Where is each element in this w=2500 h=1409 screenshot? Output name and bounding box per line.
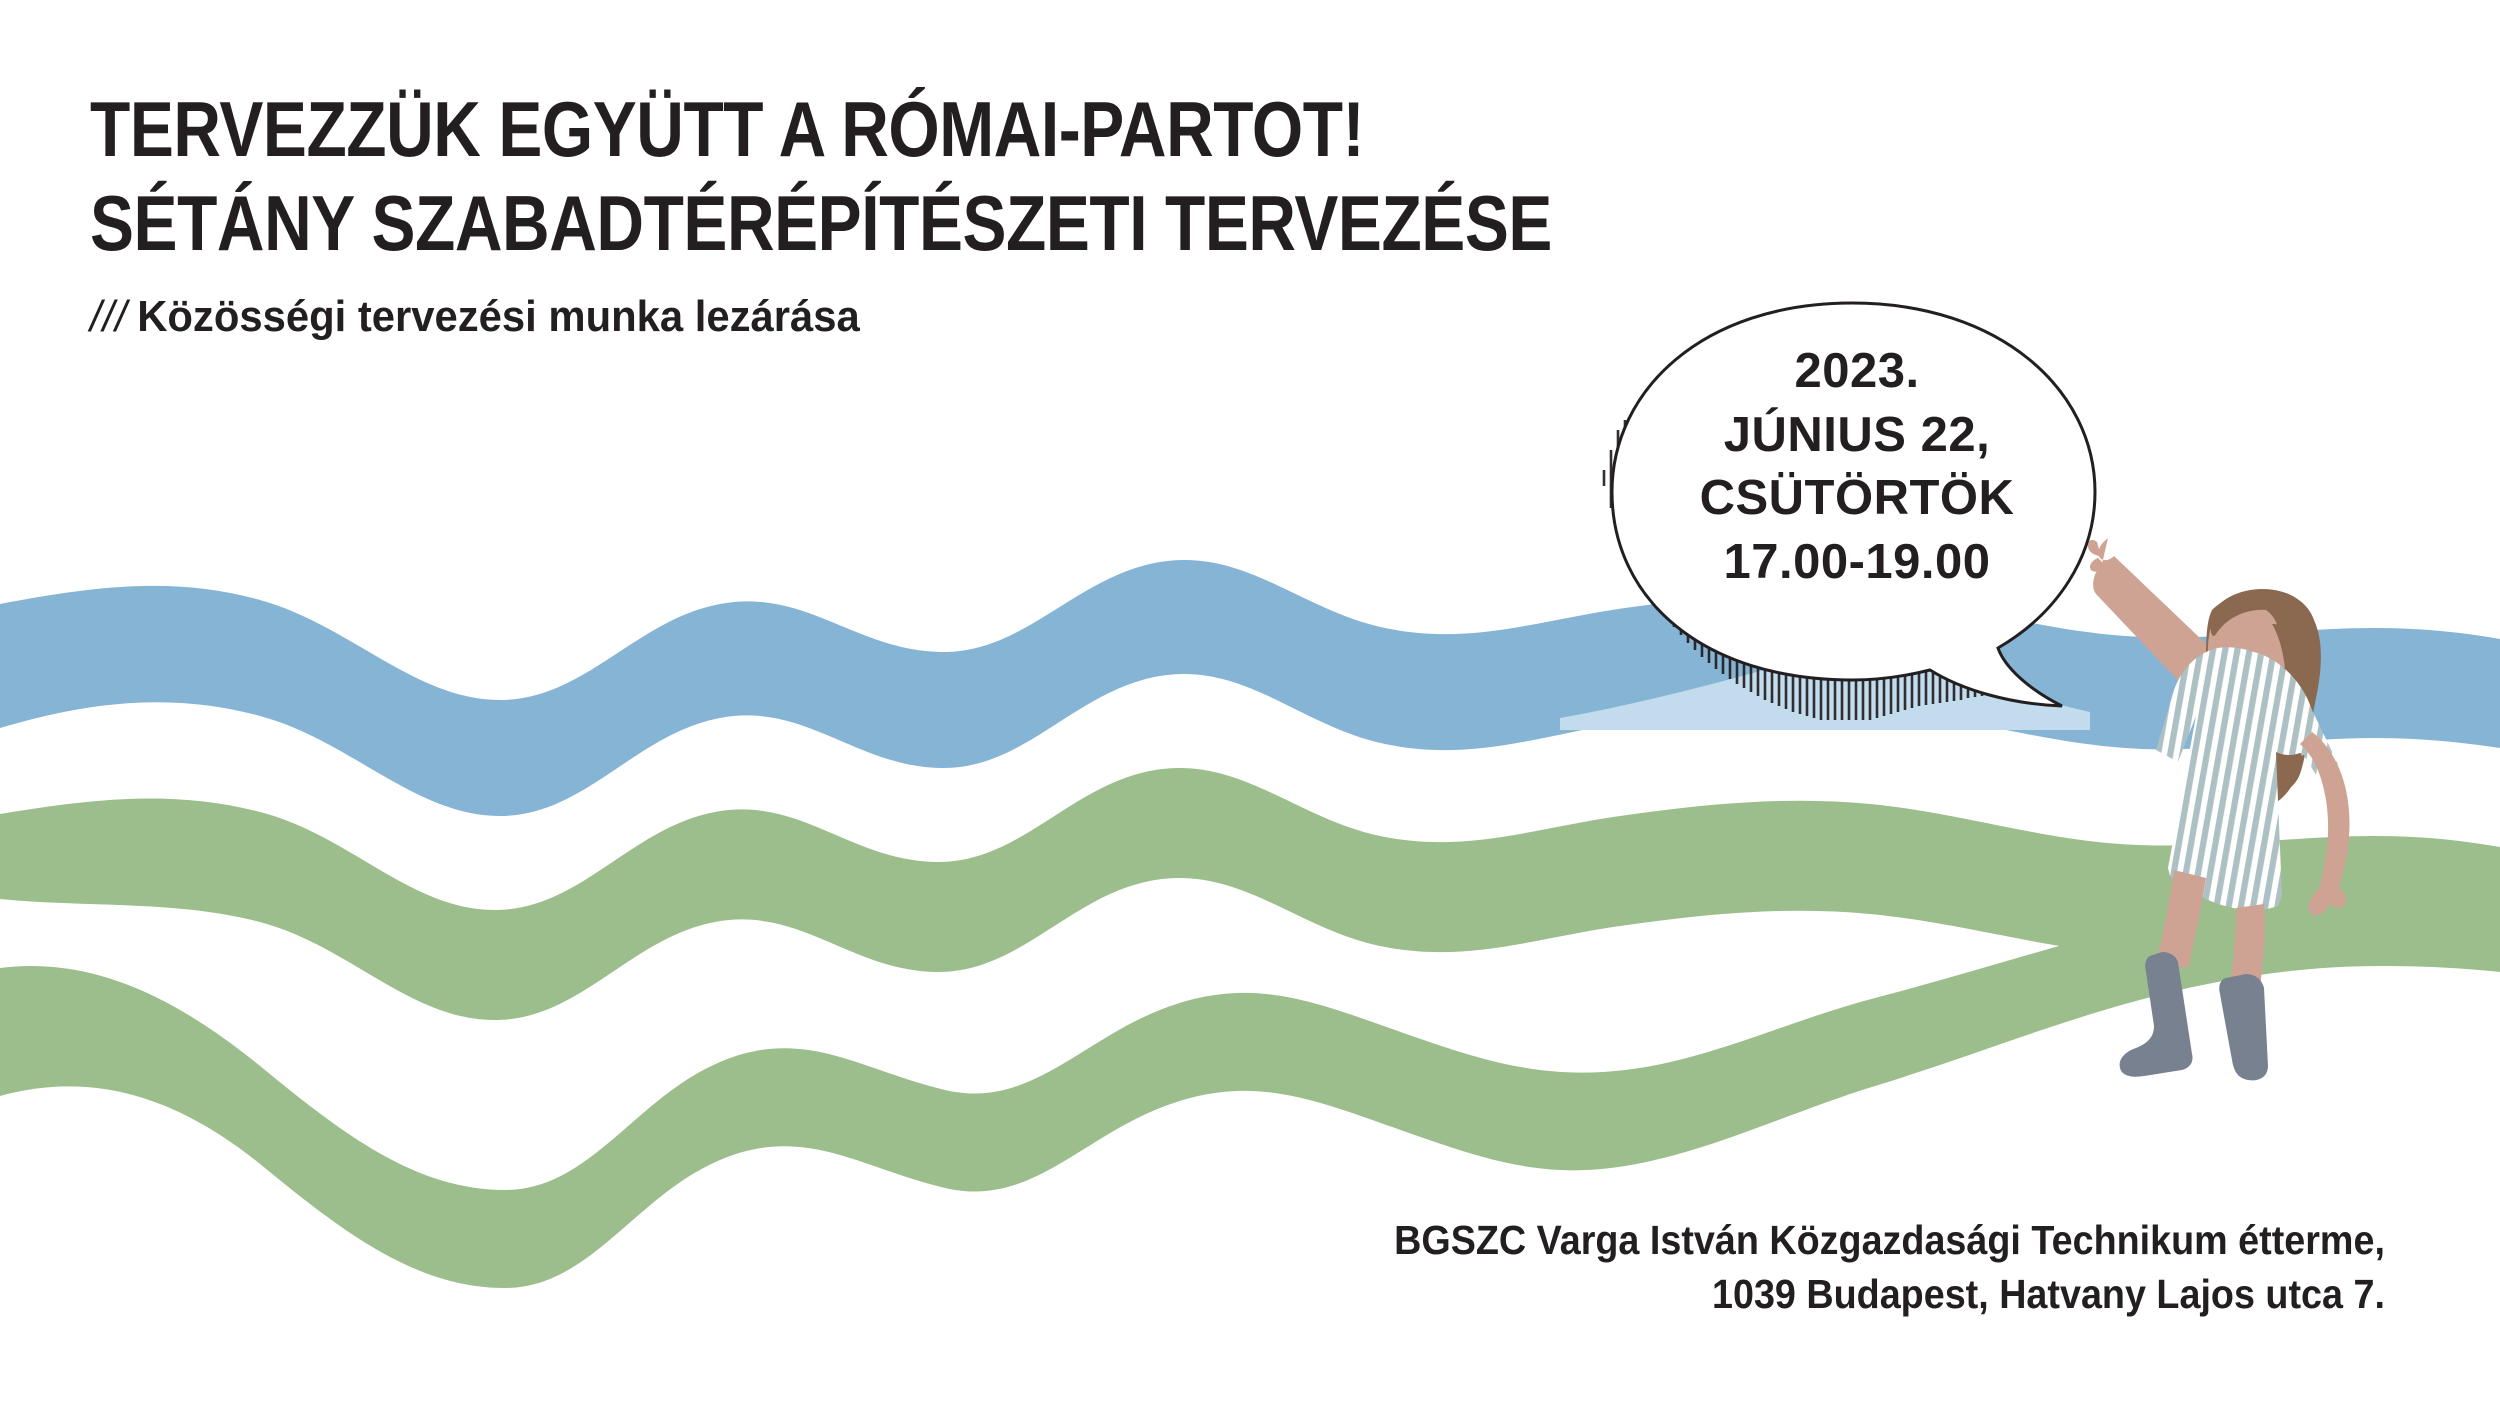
venue-line-2: 1039 Budapest, Hatvany Lajos utca 7. (1394, 1268, 2385, 1321)
bubble-text-block: 2023. JÚNIUS 22, CSÜTÖRTÖK 17.00-19.00 (1622, 340, 2092, 595)
bubble-line-3: CSÜTÖRTÖK (1622, 467, 2092, 531)
headline-block: TERVEZZÜK EGYÜTT A RÓMAI-PARTOT! SÉTÁNY … (90, 90, 1820, 342)
venue-line-1: BGSZC Varga István Közgazdasági Techniku… (1394, 1214, 2385, 1267)
bubble-line-4: 17.00-19.00 (1622, 531, 2092, 595)
page-title-line-2: SÉTÁNY SZABADTÉRÉPÍTÉSZETI TERVEZÉSE (90, 184, 1552, 262)
venue-block: BGSZC Varga István Közgazdasági Techniku… (1394, 1214, 2385, 1321)
poster-canvas: TERVEZZÜK EGYÜTT A RÓMAI-PARTOT! SÉTÁNY … (0, 0, 2500, 1409)
bubble-line-2: JÚNIUS 22, (1622, 404, 2092, 468)
girl-illustration (2050, 520, 2500, 1100)
bubble-line-1: 2023. (1622, 340, 2092, 404)
page-title-line-1: TERVEZZÜK EGYÜTT A RÓMAI-PARTOT! (90, 90, 1552, 168)
subtitle: ///Közösségi tervezési munka lezárása (90, 292, 1734, 342)
slash-marker-icon: /// (90, 292, 128, 342)
subtitle-text: Közösségi tervezési munka lezárása (137, 292, 860, 341)
